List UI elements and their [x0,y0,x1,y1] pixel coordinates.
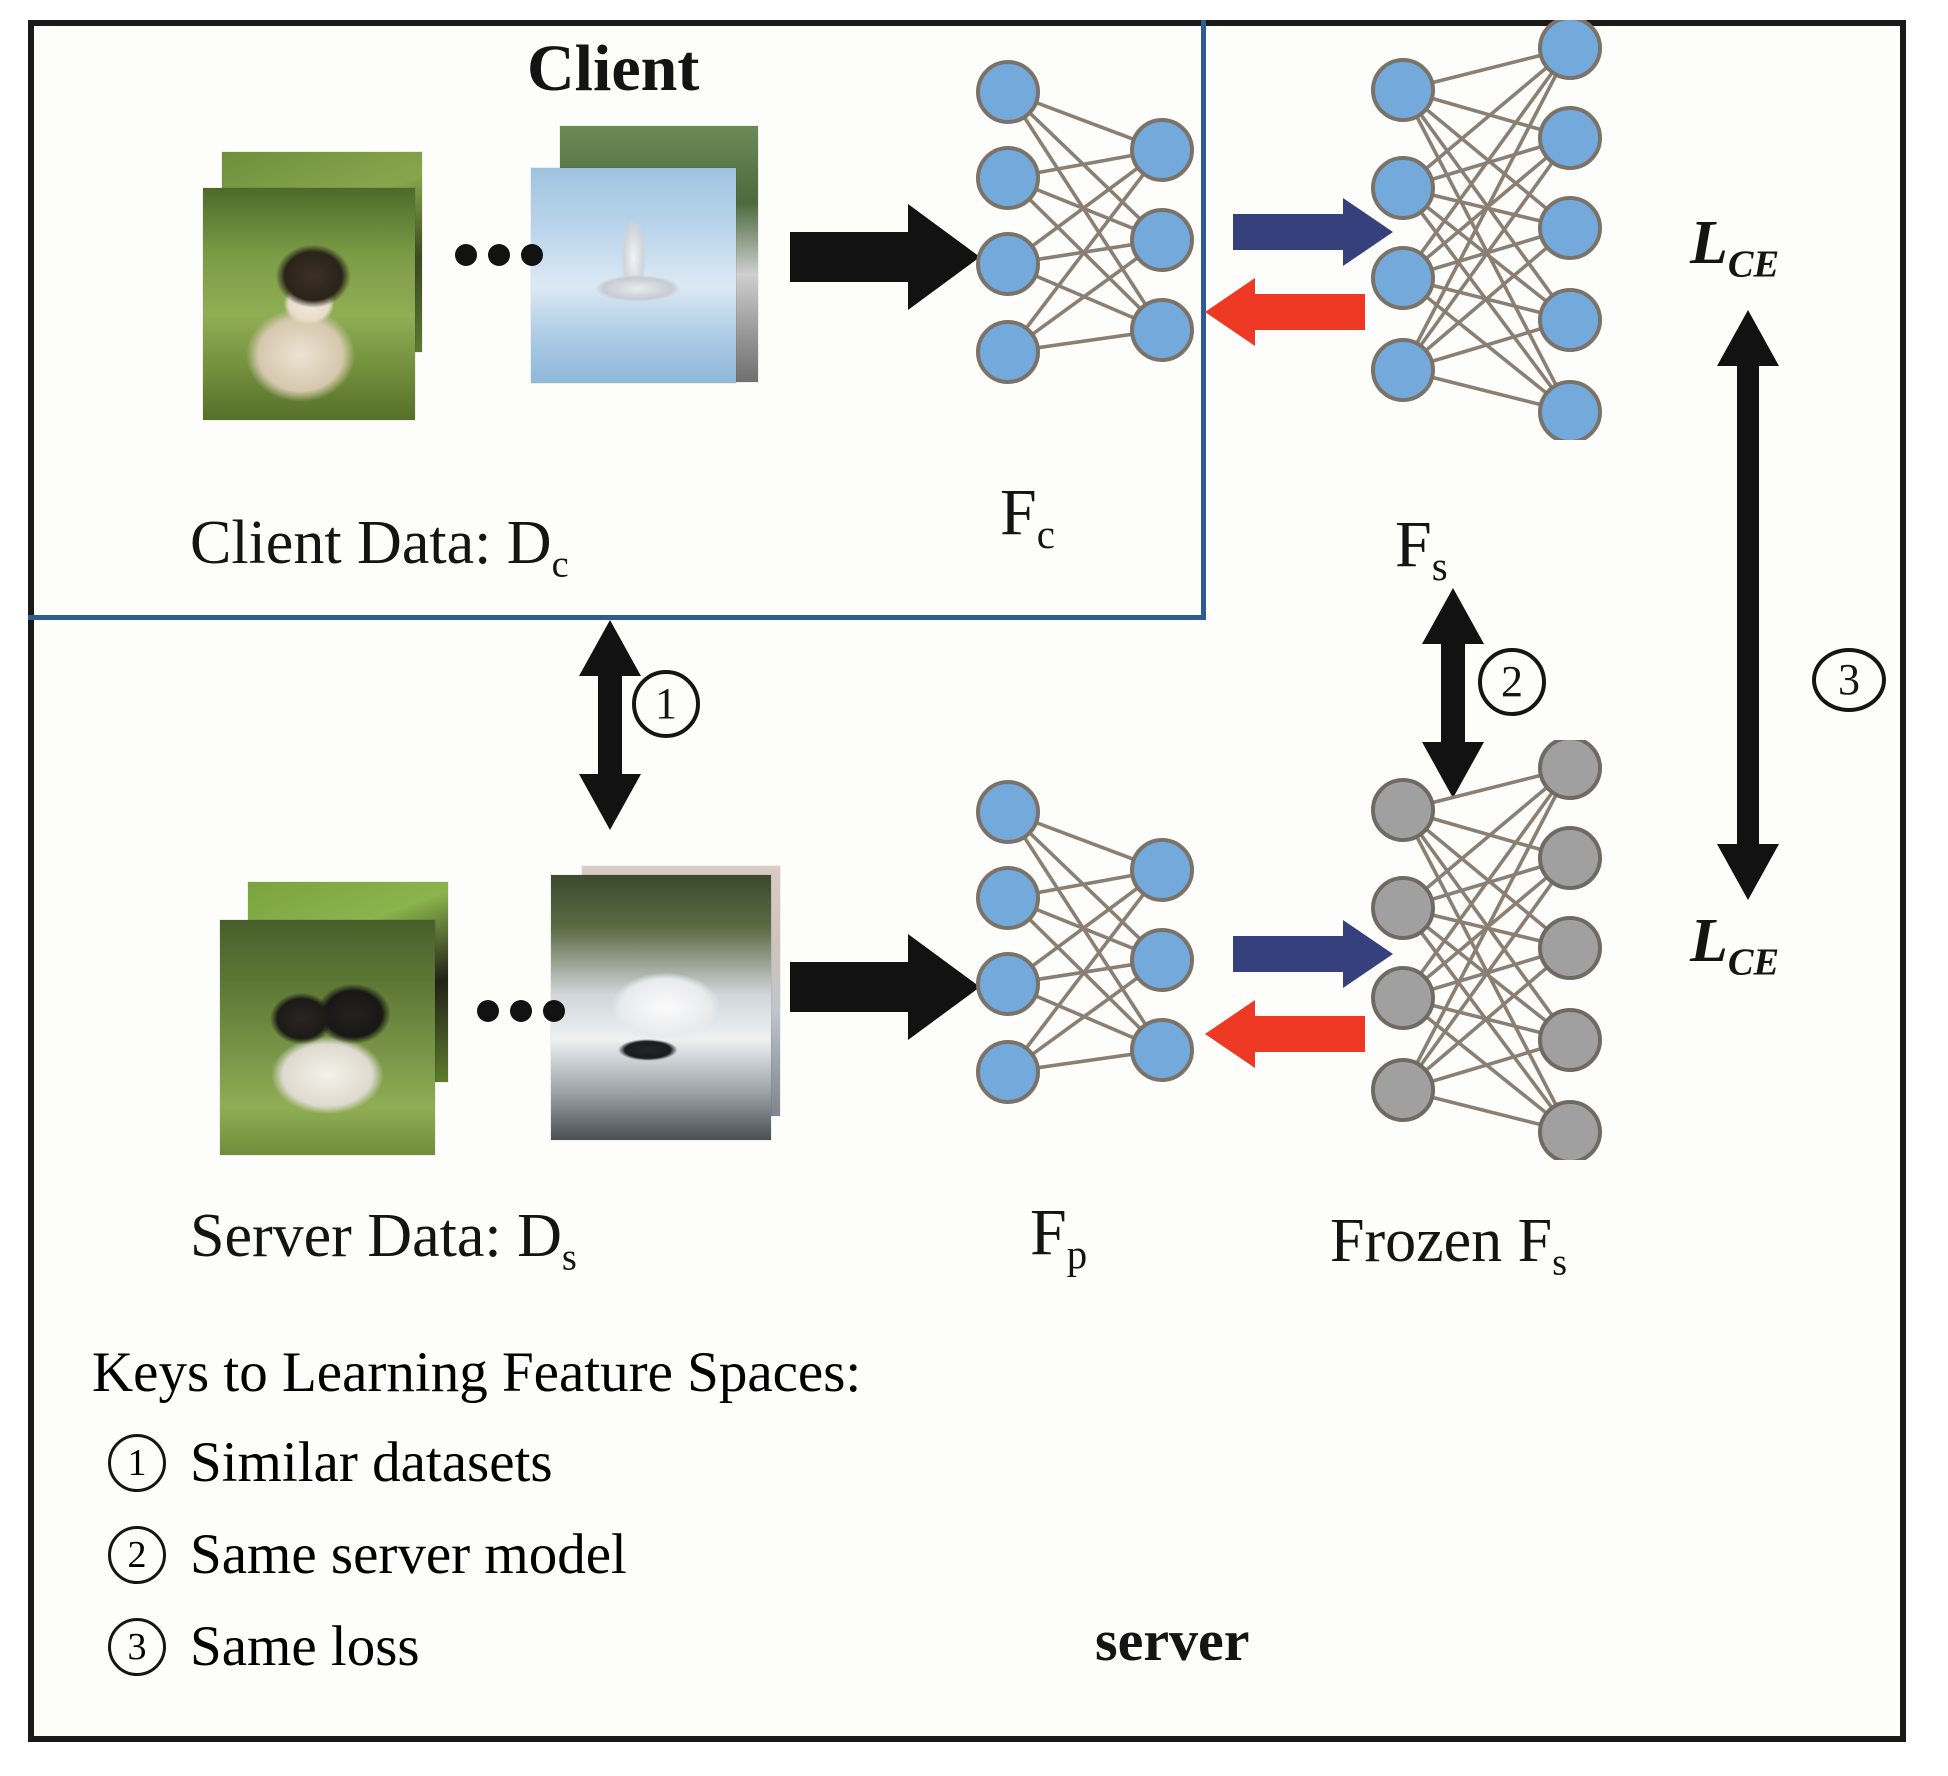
frozen-fs-label-subscript: s [1552,1241,1567,1283]
network-fc [960,50,1210,410]
loss-top-text: L [1690,209,1728,277]
loss-label-bottom: LCE [1690,910,1779,982]
marker-three-text: 3 [1838,658,1860,702]
key-item-1: 1 Similar datasets [108,1430,553,1495]
marker-three: 3 [1812,648,1886,712]
network-fc-label: Fc [1000,480,1055,556]
fs-label-text: F [1395,508,1432,581]
frozenfs-to-fp-backward-arrow [1205,1000,1365,1073]
fc-label-text: F [1000,476,1037,549]
server-photo-dogs [220,920,435,1155]
diagram-canvas: Client Client Data: Dc [0,0,1948,1776]
client-ellipsis-icon [455,244,543,266]
key-text-3: Same loss [190,1614,420,1679]
key-item-2: 2 Same server model [108,1522,627,1587]
client-data-label: Client Data: Dc [190,512,569,584]
fp-label-text: F [1030,1196,1067,1269]
client-data-subscript: c [552,543,569,585]
key-badge-3: 3 [108,1618,166,1676]
frozen-fs-label-text: Frozen F [1330,1207,1552,1275]
key-item-3: 3 Same loss [108,1614,420,1679]
server-data-to-fp-arrow [790,930,980,1050]
key-text-2: Same server model [190,1522,627,1587]
fc-label-subscript: c [1037,512,1055,557]
server-title: server [1095,1612,1250,1670]
network-fs [1355,20,1625,440]
loss-label-top: LCE [1690,212,1779,284]
client-data-to-fc-arrow [790,200,980,320]
server-data-subscript: s [562,1236,577,1278]
fs-label-subscript: s [1432,544,1448,589]
server-data-text: Server Data: D [190,1202,562,1270]
server-data-label: Server Data: Ds [190,1205,577,1277]
network-fp-label: Fp [1030,1200,1087,1276]
network-fp [960,770,1210,1130]
keys-heading: Keys to Learning Feature Spaces: [92,1340,861,1405]
network-fs-label: Fs [1395,512,1448,588]
marker-two-text: 2 [1501,660,1523,704]
client-title: Client [527,36,699,102]
network-frozen-fs [1355,740,1625,1160]
server-ellipsis-icon [477,1000,565,1022]
fp-label-subscript: p [1067,1232,1087,1277]
server-photo-car [551,875,771,1140]
fs-to-fc-backward-arrow [1205,278,1365,351]
marker-two: 2 [1478,648,1546,716]
loss-top-subscript: CE [1728,243,1779,285]
loss-double-arrow [1713,310,1783,905]
client-photo-dog [203,188,415,420]
client-photo-airplane [531,168,736,383]
marker-one: 1 [632,670,700,738]
data-similarity-double-arrow [575,620,645,835]
client-data-text: Client Data: D [190,509,552,577]
key-badge-1: 1 [108,1434,166,1492]
key-text-1: Similar datasets [190,1430,553,1495]
network-frozen-fs-label: Frozen Fs [1330,1210,1567,1282]
loss-bottom-subscript: CE [1728,941,1779,983]
marker-one-text: 1 [655,682,677,726]
loss-bottom-text: L [1690,907,1728,975]
key-badge-2: 2 [108,1526,166,1584]
